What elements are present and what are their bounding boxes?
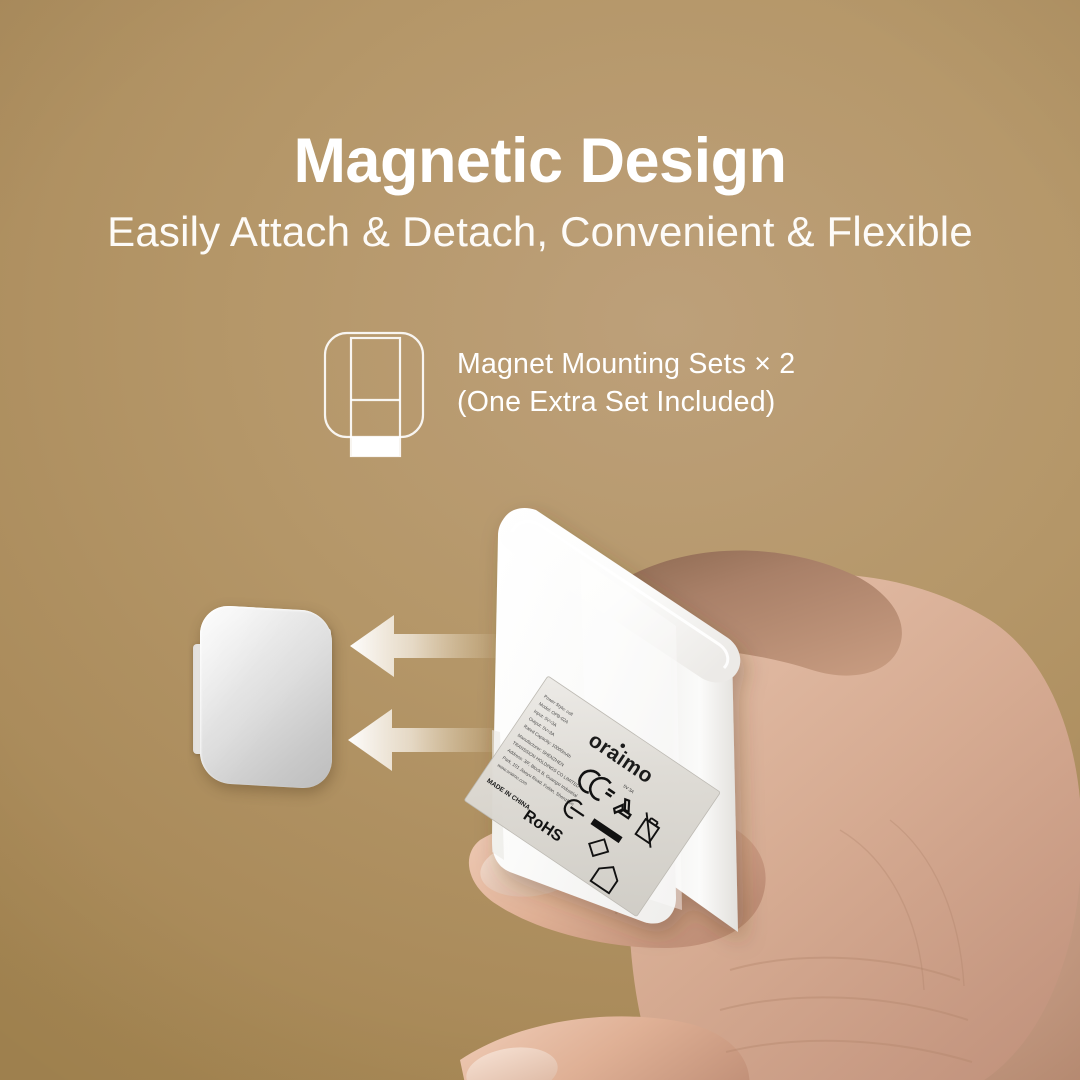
wall-plate-highlight xyxy=(200,604,332,789)
feature-row: Magnet Mounting Sets × 2 (One Extra Set … xyxy=(322,325,882,465)
wall-plate-body xyxy=(200,604,332,789)
magnetic-wall-plate xyxy=(186,598,346,798)
product-marketing-banner: Magnetic Design Easily Attach & Detach, … xyxy=(0,0,1080,1080)
page-title: Magnetic Design xyxy=(0,128,1080,194)
page-subtitle: Easily Attach & Detach, Convenient & Fle… xyxy=(0,207,1080,257)
feature-caption: Magnet Mounting Sets × 2 (One Extra Set … xyxy=(457,346,795,422)
power-bank-device: oraimo Power Style: cell Model: OPB-02A … xyxy=(440,480,840,980)
feature-caption-line-2: (One Extra Set Included) xyxy=(457,384,795,422)
feature-caption-line-1: Magnet Mounting Sets × 2 xyxy=(457,346,795,384)
magnet-mounting-icon xyxy=(322,325,438,460)
